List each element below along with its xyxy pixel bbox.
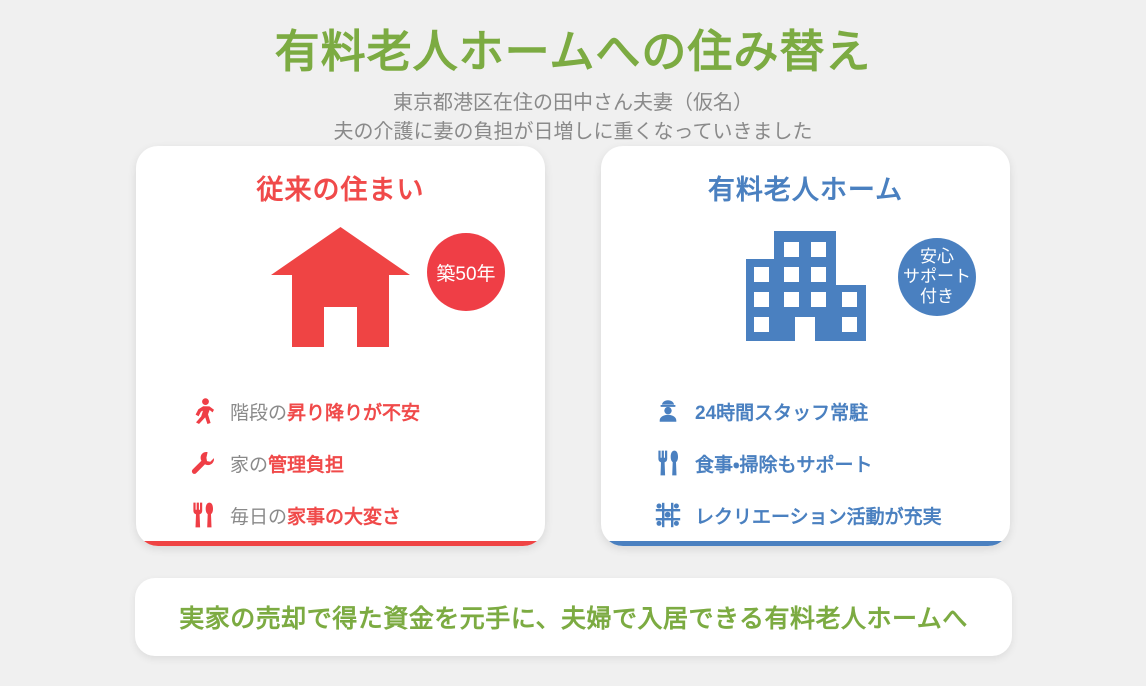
footer-banner: 実家の売却で得た資金を元手に、夫婦で入居できる有料老人ホームへ	[135, 578, 1012, 656]
wrench-icon	[186, 451, 220, 475]
comparison-cards: 従来の住まい 築50年	[0, 146, 1146, 546]
building-icon	[743, 223, 869, 349]
card-before-features: 階段の昇り降りが不安 家の管理負担	[136, 385, 545, 541]
badge-support-line-1: 安心	[920, 247, 954, 267]
badge-age: 築50年	[427, 233, 505, 311]
feature-housework: 毎日の家事の大変さ	[186, 489, 545, 541]
feature-stairs: 階段の昇り降りが不安	[186, 385, 545, 437]
feature-housework-text: 毎日の家事の大変さ	[230, 502, 401, 529]
people-group-icon	[651, 502, 685, 528]
feature-staff: 24時間スタッフ常駐	[651, 385, 1010, 437]
badge-support-line-2: サポート	[903, 267, 971, 287]
card-before-title: 従来の住まい	[136, 146, 545, 207]
house-icon	[269, 223, 412, 351]
feature-recreation: レクリエーション活動が充実	[651, 489, 1010, 541]
feature-meals-text: 食事・掃除もサポート	[695, 450, 872, 477]
feature-maintenance: 家の管理負担	[186, 437, 545, 489]
subtitle-line-2: 夫の介護に妻の負担が日増しに重くなっていきました	[0, 118, 1146, 146]
feature-recreation-text: レクリエーション活動が充実	[695, 502, 942, 529]
feature-maintenance-text: 家の管理負担	[230, 450, 344, 477]
concierge-staff-icon	[651, 399, 685, 423]
card-after[interactable]: 有料老人ホーム	[601, 146, 1010, 546]
card-before-illustration: 築50年	[136, 223, 545, 363]
card-after-features: 24時間スタッフ常駐 食事・掃除もサポート	[601, 385, 1010, 541]
feature-stairs-text: 階段の昇り降りが不安	[230, 398, 420, 425]
footer-banner-text: 実家の売却で得た資金を元手に、夫婦で入居できる有料老人ホームへ	[179, 599, 968, 635]
walking-person-icon	[186, 398, 220, 424]
fork-knife-icon	[186, 502, 220, 528]
card-before[interactable]: 従来の住まい 築50年	[136, 146, 545, 546]
page-title: 有料老人ホームへの住み替え	[0, 24, 1146, 80]
card-after-title: 有料老人ホーム	[601, 146, 1010, 207]
header: 有料老人ホームへの住み替え 東京都港区在住の田中さん夫妻（仮名） 夫の介護に妻の…	[0, 0, 1146, 146]
subtitle-line-1: 東京都港区在住の田中さん夫妻（仮名）	[0, 89, 1146, 117]
feature-meals: 食事・掃除もサポート	[651, 437, 1010, 489]
badge-age-line-1: 築50年	[436, 259, 495, 286]
badge-support-line-3: 付き	[920, 287, 954, 307]
subtitle-block: 東京都港区在住の田中さん夫妻（仮名） 夫の介護に妻の負担が日増しに重くなっていき…	[0, 89, 1146, 146]
infographic-page: 有料老人ホームへの住み替え 東京都港区在住の田中さん夫妻（仮名） 夫の介護に妻の…	[0, 0, 1146, 686]
badge-support: 安心 サポート 付き	[898, 238, 976, 316]
feature-staff-text: 24時間スタッフ常駐	[695, 398, 868, 425]
fork-knife-icon	[651, 450, 685, 476]
card-after-illustration: 安心 サポート 付き	[601, 223, 1010, 363]
